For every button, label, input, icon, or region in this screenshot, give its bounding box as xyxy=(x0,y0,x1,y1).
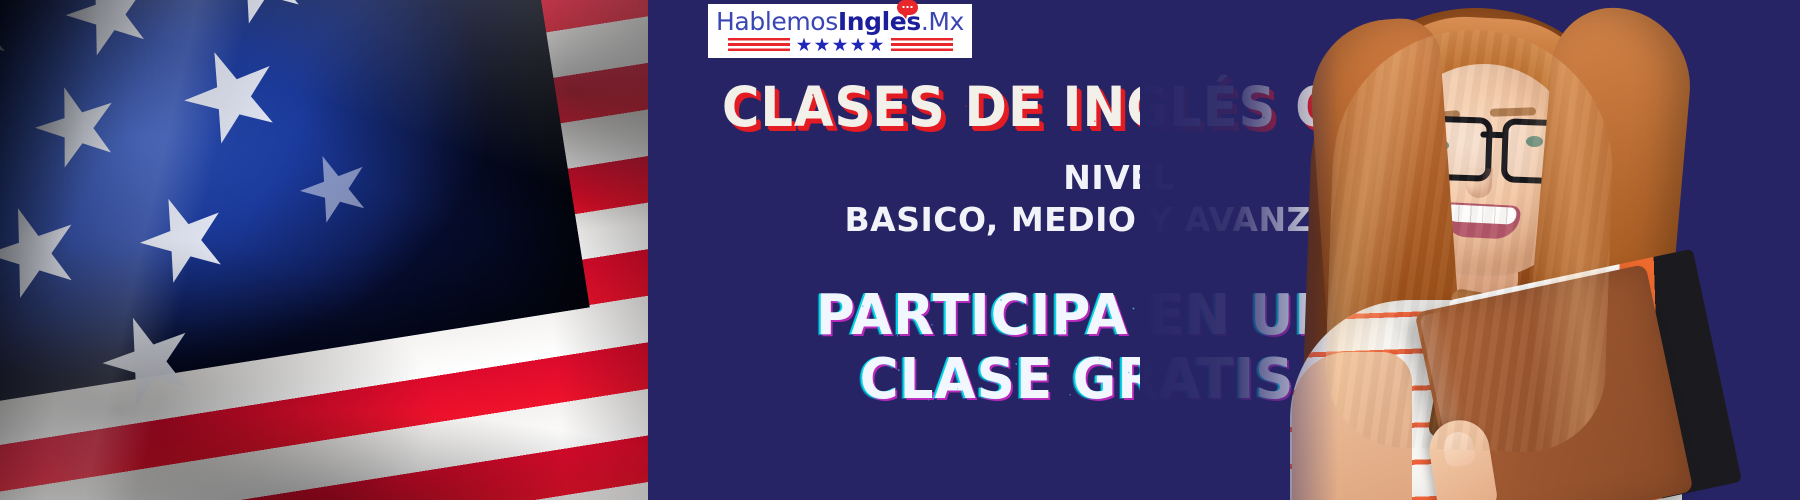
logo-flag-rule xyxy=(718,38,962,53)
logo-wordmark: HablemosIngles.Mx xyxy=(716,9,964,34)
cta-line-2: CLASE GRATIS ! xyxy=(648,352,1800,408)
headline-text: CLASES DE INGLÉS ONLINE xyxy=(722,80,1516,135)
star-icon xyxy=(797,38,812,53)
star-icon xyxy=(851,38,866,53)
stripes-right-icon xyxy=(891,38,953,53)
cta-line-1: PARTICIPA EN UNA xyxy=(648,288,1800,344)
us-flag-photo xyxy=(0,0,648,500)
subtitle-line-2: BASICO, MEDIO Y AVANZADO xyxy=(648,200,1800,239)
star-icon xyxy=(833,38,848,53)
flag-shading xyxy=(0,0,648,500)
content-stage: HablemosIngles.Mx CLASES DE INGLÉS ONLIN… xyxy=(648,0,1800,500)
stars-row xyxy=(797,38,884,53)
stripes-left-icon xyxy=(728,38,790,53)
logo-text-mx: .Mx xyxy=(921,7,964,36)
headline: CLASES DE INGLÉS ONLINE xyxy=(648,80,1800,135)
star-icon xyxy=(815,38,830,53)
subtitle-line-1: NIVEL xyxy=(648,158,1800,197)
star-icon xyxy=(869,38,884,53)
logo-text-hablemos: Hablemos xyxy=(716,7,838,36)
cta-text-2: CLASE GRATIS ! xyxy=(859,352,1338,408)
brand-logo[interactable]: HablemosIngles.Mx xyxy=(708,4,972,58)
speech-bubble-icon xyxy=(897,0,918,15)
cta-text-1: PARTICIPA EN UNA xyxy=(816,288,1382,344)
promo-banner: HablemosIngles.Mx CLASES DE INGLÉS ONLIN… xyxy=(0,0,1800,500)
